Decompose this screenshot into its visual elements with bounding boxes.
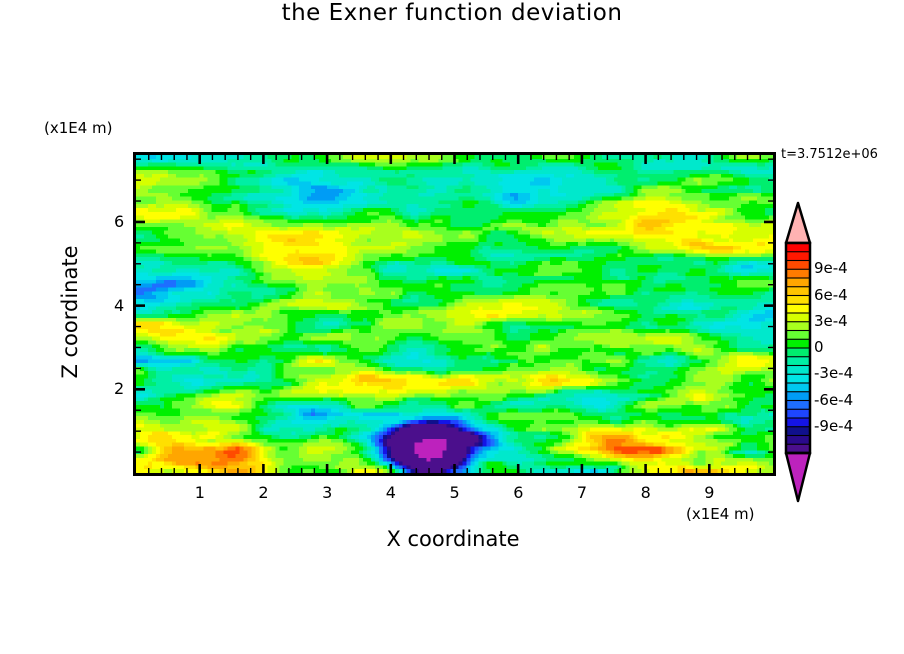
x-tick-label-2: 2 <box>258 483 268 502</box>
colorbar-tick-label-2: 3e-4 <box>814 312 848 330</box>
x-tick-label-8: 8 <box>641 483 651 502</box>
y-tick-label-6: 6 <box>114 212 124 231</box>
plot-axes <box>0 0 904 654</box>
y-tick-label-2: 2 <box>114 379 124 398</box>
x-tick-label-7: 7 <box>577 483 587 502</box>
x-tick-label-9: 9 <box>704 483 714 502</box>
colorbar-tick-label-1: 6e-4 <box>814 286 848 304</box>
y-tick-label-4: 4 <box>114 296 124 315</box>
x-tick-label-4: 4 <box>386 483 396 502</box>
colorbar-tick-label-0: 9e-4 <box>814 259 848 277</box>
colorbar-gradient <box>770 195 830 525</box>
x-tick-label-5: 5 <box>450 483 460 502</box>
x-tick-label-1: 1 <box>195 483 205 502</box>
colorbar-tick-label-3: 0 <box>814 338 824 356</box>
colorbar-tick-label-5: -6e-4 <box>814 391 853 409</box>
x-tick-label-6: 6 <box>513 483 523 502</box>
colorbar-tick-label-6: -9e-4 <box>814 417 853 435</box>
colorbar-tick-label-4: -3e-4 <box>814 364 853 382</box>
x-tick-label-3: 3 <box>322 483 332 502</box>
